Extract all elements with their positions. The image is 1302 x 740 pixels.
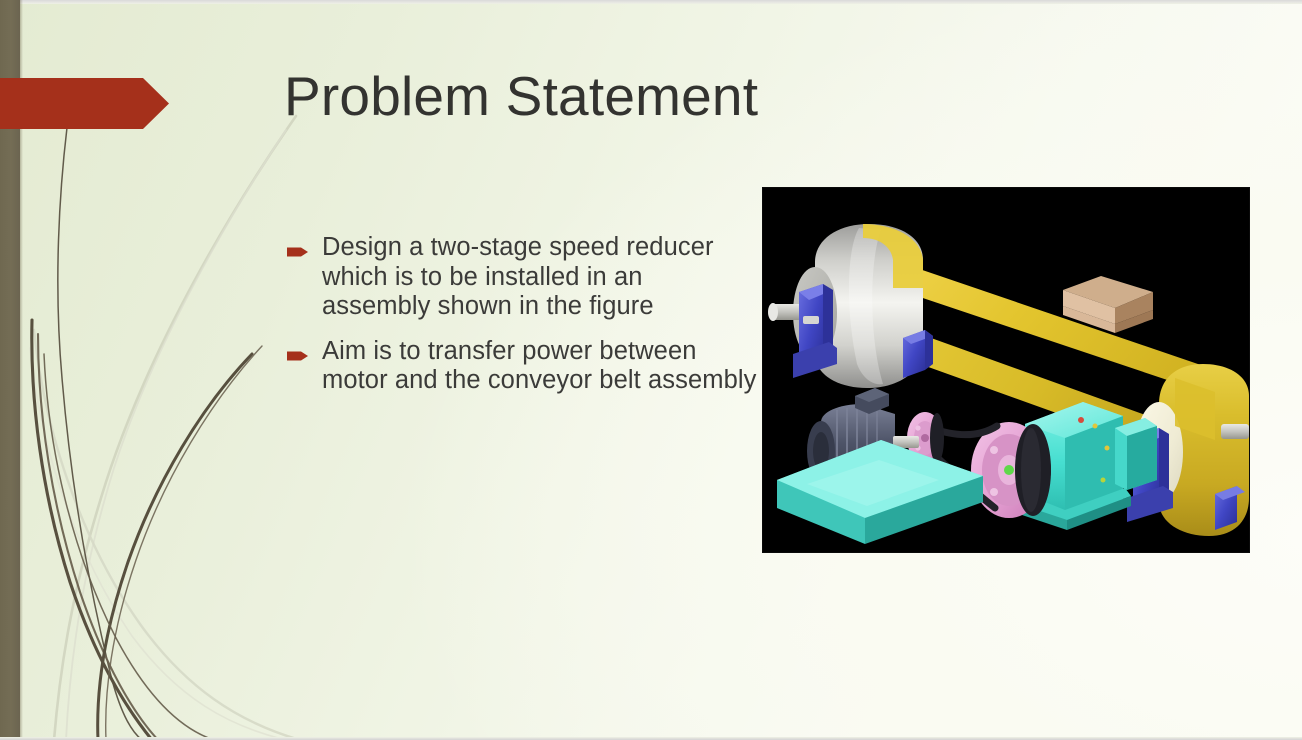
red-arrow-bullet-icon — [287, 245, 309, 257]
bullet-text: Design a two-stage speed reducer which i… — [322, 233, 757, 322]
slide-top-border — [0, 0, 1302, 4]
conveyor-belt-assembly-render — [763, 188, 1249, 552]
bullet-text: Aim is to transfer power between motor a… — [322, 337, 757, 396]
list-item: Design a two-stage speed reducer which i… — [287, 233, 757, 322]
gearbox-pulley — [971, 422, 1051, 518]
slide-canvas: Problem Statement Design a two-stage spe… — [0, 0, 1302, 740]
red-arrow-banner — [0, 78, 170, 129]
page-title: Problem Statement — [284, 66, 984, 127]
red-arrow-bullet-icon — [287, 349, 309, 361]
list-item: Aim is to transfer power between motor a… — [287, 337, 757, 396]
bearing-block-left — [793, 284, 837, 378]
bullet-list: Design a two-stage speed reducer which i… — [287, 233, 757, 396]
